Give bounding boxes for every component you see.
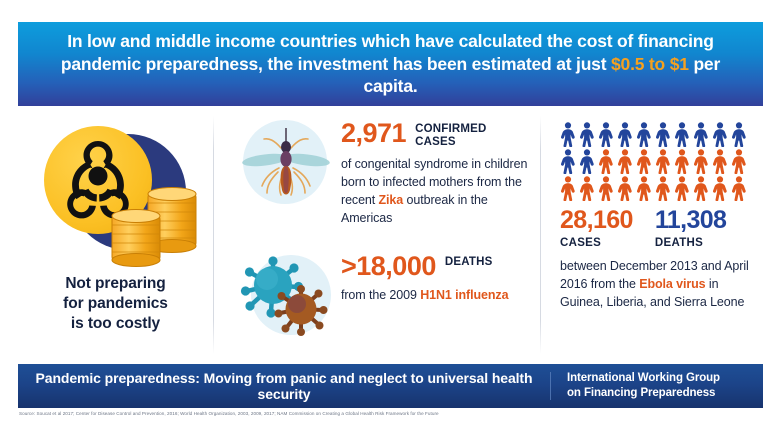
person-icon <box>712 149 728 174</box>
middle-panel: 2,971 CONFIRMED CASES of congenital synd… <box>213 110 540 360</box>
headline-text: In low and middle income countries which… <box>46 30 735 98</box>
stat-h1n1: >18,000 DEATHS from the 2009 H1N1 influe… <box>237 247 530 343</box>
person-figure-orange <box>674 176 690 201</box>
stat-h1n1-label-line-1: DEATHS <box>445 256 493 269</box>
person-icon <box>693 149 709 174</box>
person-figure-orange <box>617 176 633 201</box>
stat-h1n1-number: >18,000 <box>341 253 436 280</box>
person-icon <box>598 176 614 201</box>
person-figure-orange <box>693 149 709 174</box>
left-caption-line-1: Not preparing <box>18 274 213 294</box>
left-panel-caption: Not preparing for pandemics is too costl… <box>18 274 213 333</box>
ebola-cases-label: CASES <box>560 237 633 249</box>
pictogram-row <box>560 176 760 201</box>
stat-zika-label-line-2: CASES <box>415 136 486 149</box>
stat-zika-label: CONFIRMED CASES <box>415 120 486 149</box>
person-figure-blue <box>636 122 652 147</box>
person-figure-orange <box>731 176 747 201</box>
ebola-description: between December 2013 and April 2016 fro… <box>558 258 757 311</box>
pictogram-row <box>560 149 760 174</box>
person-icon <box>731 149 747 174</box>
ebola-keyword: Ebola virus <box>639 277 705 291</box>
person-icon <box>560 122 576 147</box>
ebola-figures: 28,160 CASES 11,308 DEATHS <box>558 208 757 249</box>
person-icon <box>579 149 595 174</box>
person-icon <box>598 149 614 174</box>
footer-divider <box>550 372 551 400</box>
person-figure-blue <box>674 122 690 147</box>
mosquito-icon <box>237 114 335 210</box>
person-figure-orange <box>636 176 652 201</box>
source-citation: Source: Soucat et al 2017; Center for Di… <box>19 411 763 416</box>
person-figure-orange <box>693 176 709 201</box>
person-figure-blue <box>579 122 595 147</box>
person-icon <box>655 176 671 201</box>
person-icon <box>560 176 576 201</box>
ebola-cases-block: 28,160 CASES <box>560 208 633 249</box>
person-icon <box>674 149 690 174</box>
person-figure-blue <box>560 122 576 147</box>
person-figure-blue <box>560 149 576 174</box>
person-icon <box>579 176 595 201</box>
person-figure-blue <box>598 122 614 147</box>
stat-h1n1-headline: >18,000 DEATHS <box>341 253 530 280</box>
stat-zika-headline: 2,971 CONFIRMED CASES <box>341 120 530 149</box>
left-panel: Not preparing for pandemics is too costl… <box>18 110 213 360</box>
person-figure-orange <box>674 149 690 174</box>
footer-organization: International Working Group on Financing… <box>551 371 763 401</box>
stat-zika: 2,971 CONFIRMED CASES of congenital synd… <box>237 114 530 227</box>
footer-org-line-2: on Financing Preparedness <box>567 386 763 401</box>
stat-h1n1-label: DEATHS <box>445 253 493 269</box>
person-figure-blue <box>617 122 633 147</box>
person-icon <box>693 122 709 147</box>
headline-accent-value: $0.5 to $1 <box>611 54 689 74</box>
stat-h1n1-keyword: H1N1 influenza <box>420 288 508 302</box>
person-icon <box>617 122 633 147</box>
person-figure-orange <box>560 176 576 201</box>
person-figure-orange <box>655 149 671 174</box>
person-figure-blue <box>693 122 709 147</box>
headline-banner: In low and middle income countries which… <box>18 22 763 106</box>
stat-zika-label-line-1: CONFIRMED <box>415 123 486 136</box>
stat-zika-keyword: Zika <box>379 193 404 207</box>
person-icon <box>579 122 595 147</box>
left-caption-line-3: is too costly <box>18 314 213 334</box>
person-figure-orange <box>712 149 728 174</box>
person-icon <box>636 176 652 201</box>
stat-zika-body: 2,971 CONFIRMED CASES of congenital synd… <box>335 114 530 227</box>
footer-banner: Pandemic preparedness: Moving from panic… <box>18 364 763 408</box>
person-icon <box>712 122 728 147</box>
ebola-deaths-label: DEATHS <box>655 237 727 249</box>
person-icon <box>617 149 633 174</box>
person-icon <box>693 176 709 201</box>
person-icon <box>712 176 728 201</box>
footer-org-line-1: International Working Group <box>567 371 763 386</box>
virus-icon <box>237 247 335 343</box>
person-icon <box>598 122 614 147</box>
main-content: Not preparing for pandemics is too costl… <box>18 110 763 360</box>
ebola-deaths-block: 11,308 DEATHS <box>655 208 727 249</box>
mosquito-glyph <box>237 114 335 210</box>
person-icon <box>674 122 690 147</box>
people-pictogram <box>560 122 760 201</box>
stat-h1n1-desc-before: from the 2009 <box>341 288 420 302</box>
person-icon <box>674 176 690 201</box>
stat-zika-number: 2,971 <box>341 120 406 147</box>
person-figure-orange <box>731 149 747 174</box>
person-figure-blue <box>712 122 728 147</box>
person-figure-blue <box>579 149 595 174</box>
person-icon <box>655 149 671 174</box>
ebola-deaths-number: 11,308 <box>655 208 727 233</box>
stat-zika-description: of congenital syndrome in children born … <box>341 156 530 227</box>
ebola-cases-number: 28,160 <box>560 208 633 233</box>
stat-h1n1-body: >18,000 DEATHS from the 2009 H1N1 influe… <box>335 247 530 305</box>
infographic-page: In low and middle income countries which… <box>0 0 780 433</box>
left-caption-line-2: for pandemics <box>18 294 213 314</box>
pictogram-row <box>560 122 760 147</box>
person-icon <box>636 122 652 147</box>
person-figure-orange <box>655 176 671 201</box>
stat-h1n1-description: from the 2009 H1N1 influenza <box>341 287 530 305</box>
person-figure-orange <box>579 176 595 201</box>
right-panel: 28,160 CASES 11,308 DEATHS between Decem… <box>540 110 763 360</box>
coin-stacks-icon <box>106 172 202 268</box>
footer-title: Pandemic preparedness: Moving from panic… <box>18 370 550 402</box>
person-icon <box>560 149 576 174</box>
person-icon <box>636 149 652 174</box>
person-figure-orange <box>598 149 614 174</box>
person-icon <box>655 122 671 147</box>
person-icon <box>731 176 747 201</box>
person-figure-orange <box>617 149 633 174</box>
person-figure-blue <box>731 122 747 147</box>
biohazard-coins-icon <box>28 120 204 270</box>
person-figure-orange <box>598 176 614 201</box>
virus-small-brown <box>275 285 328 336</box>
virus-glyph <box>237 247 335 343</box>
person-icon <box>617 176 633 201</box>
person-figure-orange <box>636 149 652 174</box>
person-icon <box>731 122 747 147</box>
person-figure-blue <box>655 122 671 147</box>
person-figure-orange <box>712 176 728 201</box>
